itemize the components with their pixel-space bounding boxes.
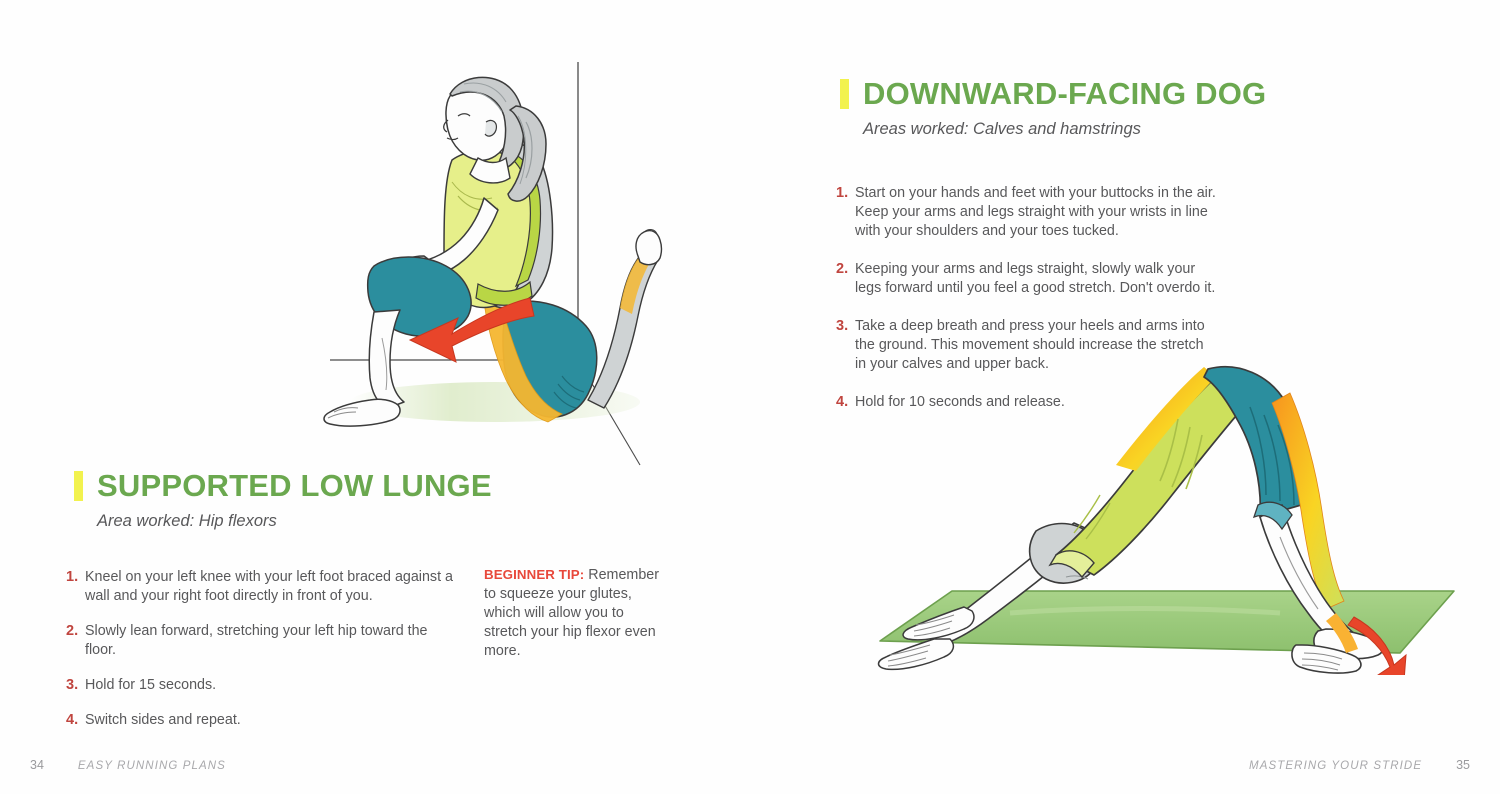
- beginner-tip-box: BEGINNER TIP: Remember to squeeze your g…: [484, 565, 669, 661]
- step-number: 3.: [836, 317, 855, 336]
- accent-bar-icon: [74, 471, 83, 501]
- step-number: 2.: [66, 622, 85, 641]
- list-item: 2. Slowly lean forward, stretching your …: [66, 622, 456, 660]
- page-title-left: SUPPORTED LOW LUNGE: [97, 470, 492, 501]
- step-text: Keeping your arms and legs straight, slo…: [855, 260, 1216, 298]
- supported-low-lunge-illustration: [300, 50, 680, 490]
- step-text: Kneel on your left knee with your left f…: [85, 568, 456, 606]
- rear-leg: [588, 230, 662, 408]
- subtitle-right: Areas worked: Calves and hamstrings: [863, 120, 1266, 139]
- footer-left: 34 EASY RUNNING PLANS: [30, 758, 226, 772]
- list-item: 3. Hold for 15 seconds.: [66, 676, 456, 695]
- tip-paragraph: BEGINNER TIP: Remember to squeeze your g…: [484, 565, 669, 661]
- right-exercise-heading-block: DOWNWARD-FACING DOG Areas worked: Calves…: [840, 78, 1266, 139]
- right-page: DOWNWARD-FACING DOG Areas worked: Calves…: [750, 0, 1500, 794]
- heading-row: SUPPORTED LOW LUNGE: [74, 470, 492, 501]
- running-head-right: MASTERING YOUR STRIDE: [1249, 760, 1422, 772]
- left-steps-list: 1. Kneel on your left knee with your lef…: [66, 568, 456, 730]
- step-number: 4.: [836, 393, 855, 412]
- downward-facing-dog-illustration: [860, 345, 1480, 675]
- page-number-left: 34: [30, 758, 44, 772]
- step-text: Start on your hands and feet with your b…: [855, 184, 1216, 241]
- heading-row: DOWNWARD-FACING DOG: [840, 78, 1266, 109]
- footer-right: MASTERING YOUR STRIDE 35: [1249, 758, 1470, 772]
- left-exercise-heading-block: SUPPORTED LOW LUNGE Area worked: Hip fle…: [74, 470, 492, 531]
- step-text: Switch sides and repeat.: [85, 711, 456, 730]
- step-number: 3.: [66, 676, 85, 695]
- left-page: SUPPORTED LOW LUNGE Area worked: Hip fle…: [0, 0, 750, 794]
- step-text: Hold for 15 seconds.: [85, 676, 456, 695]
- accent-bar-icon: [840, 79, 849, 109]
- list-item: 4. Switch sides and repeat.: [66, 711, 456, 730]
- step-number: 1.: [836, 184, 855, 203]
- step-number: 4.: [66, 711, 85, 730]
- book-spread: SUPPORTED LOW LUNGE Area worked: Hip fle…: [0, 0, 1500, 794]
- list-item: 1. Kneel on your left knee with your lef…: [66, 568, 456, 606]
- list-item: 1. Start on your hands and feet with you…: [836, 184, 1216, 241]
- tip-label: BEGINNER TIP:: [484, 567, 584, 582]
- subtitle-left: Area worked: Hip flexors: [97, 512, 492, 531]
- running-head-left: EASY RUNNING PLANS: [78, 760, 226, 772]
- page-number-right: 35: [1456, 758, 1470, 772]
- step-number: 2.: [836, 260, 855, 279]
- step-number: 1.: [66, 568, 85, 587]
- page-title-right: DOWNWARD-FACING DOG: [863, 78, 1266, 109]
- step-text: Slowly lean forward, stretching your lef…: [85, 622, 456, 660]
- list-item: 2. Keeping your arms and legs straight, …: [836, 260, 1216, 298]
